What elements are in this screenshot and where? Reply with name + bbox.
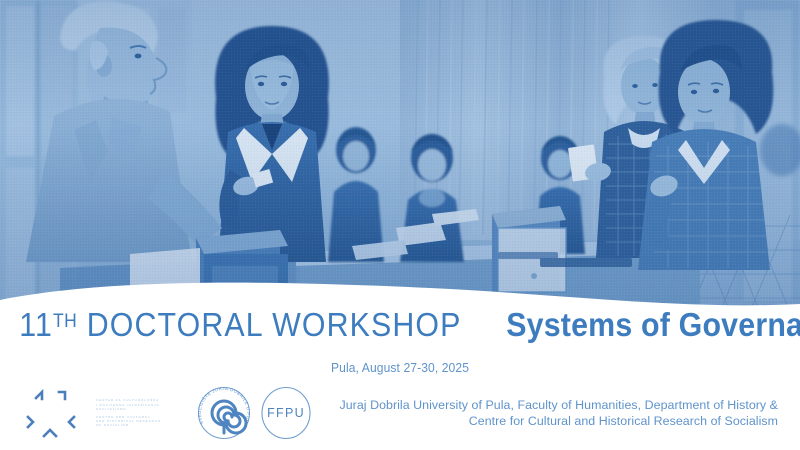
ffpu-label: FFPU: [267, 406, 305, 420]
title-theme: Systems of Governance: [506, 308, 800, 341]
star-outline-logo: [14, 384, 88, 442]
hero-photo-illustration: [0, 0, 800, 312]
centre-hr-line1: CENTAR ZA KULTUROLOŠKA: [96, 399, 188, 402]
ffpu-logo: FFPU: [260, 385, 312, 441]
date-location-line: Pula, August 27-30, 2025: [28, 360, 772, 375]
logo-group: CENTAR ZA KULTUROLOŠKA I POVIJESNA ISTRA…: [14, 384, 312, 442]
hero-photo: [0, 0, 800, 312]
title-main-text: 11TH DOCTORAL WORKSHOP: [19, 308, 461, 341]
title-number: 11: [19, 306, 53, 343]
affiliation-block: Juraj Dobrila University of Pula, Facult…: [308, 397, 778, 429]
affiliation-line-2: Centre for Cultural and Historical Resea…: [308, 413, 778, 429]
centre-en-line3: OF SOCIALISM: [96, 424, 188, 427]
title-main-label: DOCTORAL WORKSHOP: [77, 306, 461, 343]
footer: CENTAR ZA KULTUROLOŠKA I POVIJESNA ISTRA…: [0, 382, 800, 450]
juraj-dobrila-university-logo: SVEUČILIŠTE JURJA DOBRILE U PULI: [196, 385, 252, 441]
page-title: 11TH DOCTORAL WORKSHOPSystems of Governa…: [0, 308, 800, 341]
title-ordinal-suffix: TH: [53, 311, 77, 332]
centre-wordmark: CENTAR ZA KULTUROLOŠKA I POVIJESNA ISTRA…: [96, 397, 188, 429]
conference-poster: 11TH DOCTORAL WORKSHOPSystems of Governa…: [0, 0, 800, 450]
affiliation-line-1: Juraj Dobrila University of Pula, Facult…: [308, 397, 778, 413]
centre-hr-line3: SOCIJALIZMA: [96, 408, 188, 411]
